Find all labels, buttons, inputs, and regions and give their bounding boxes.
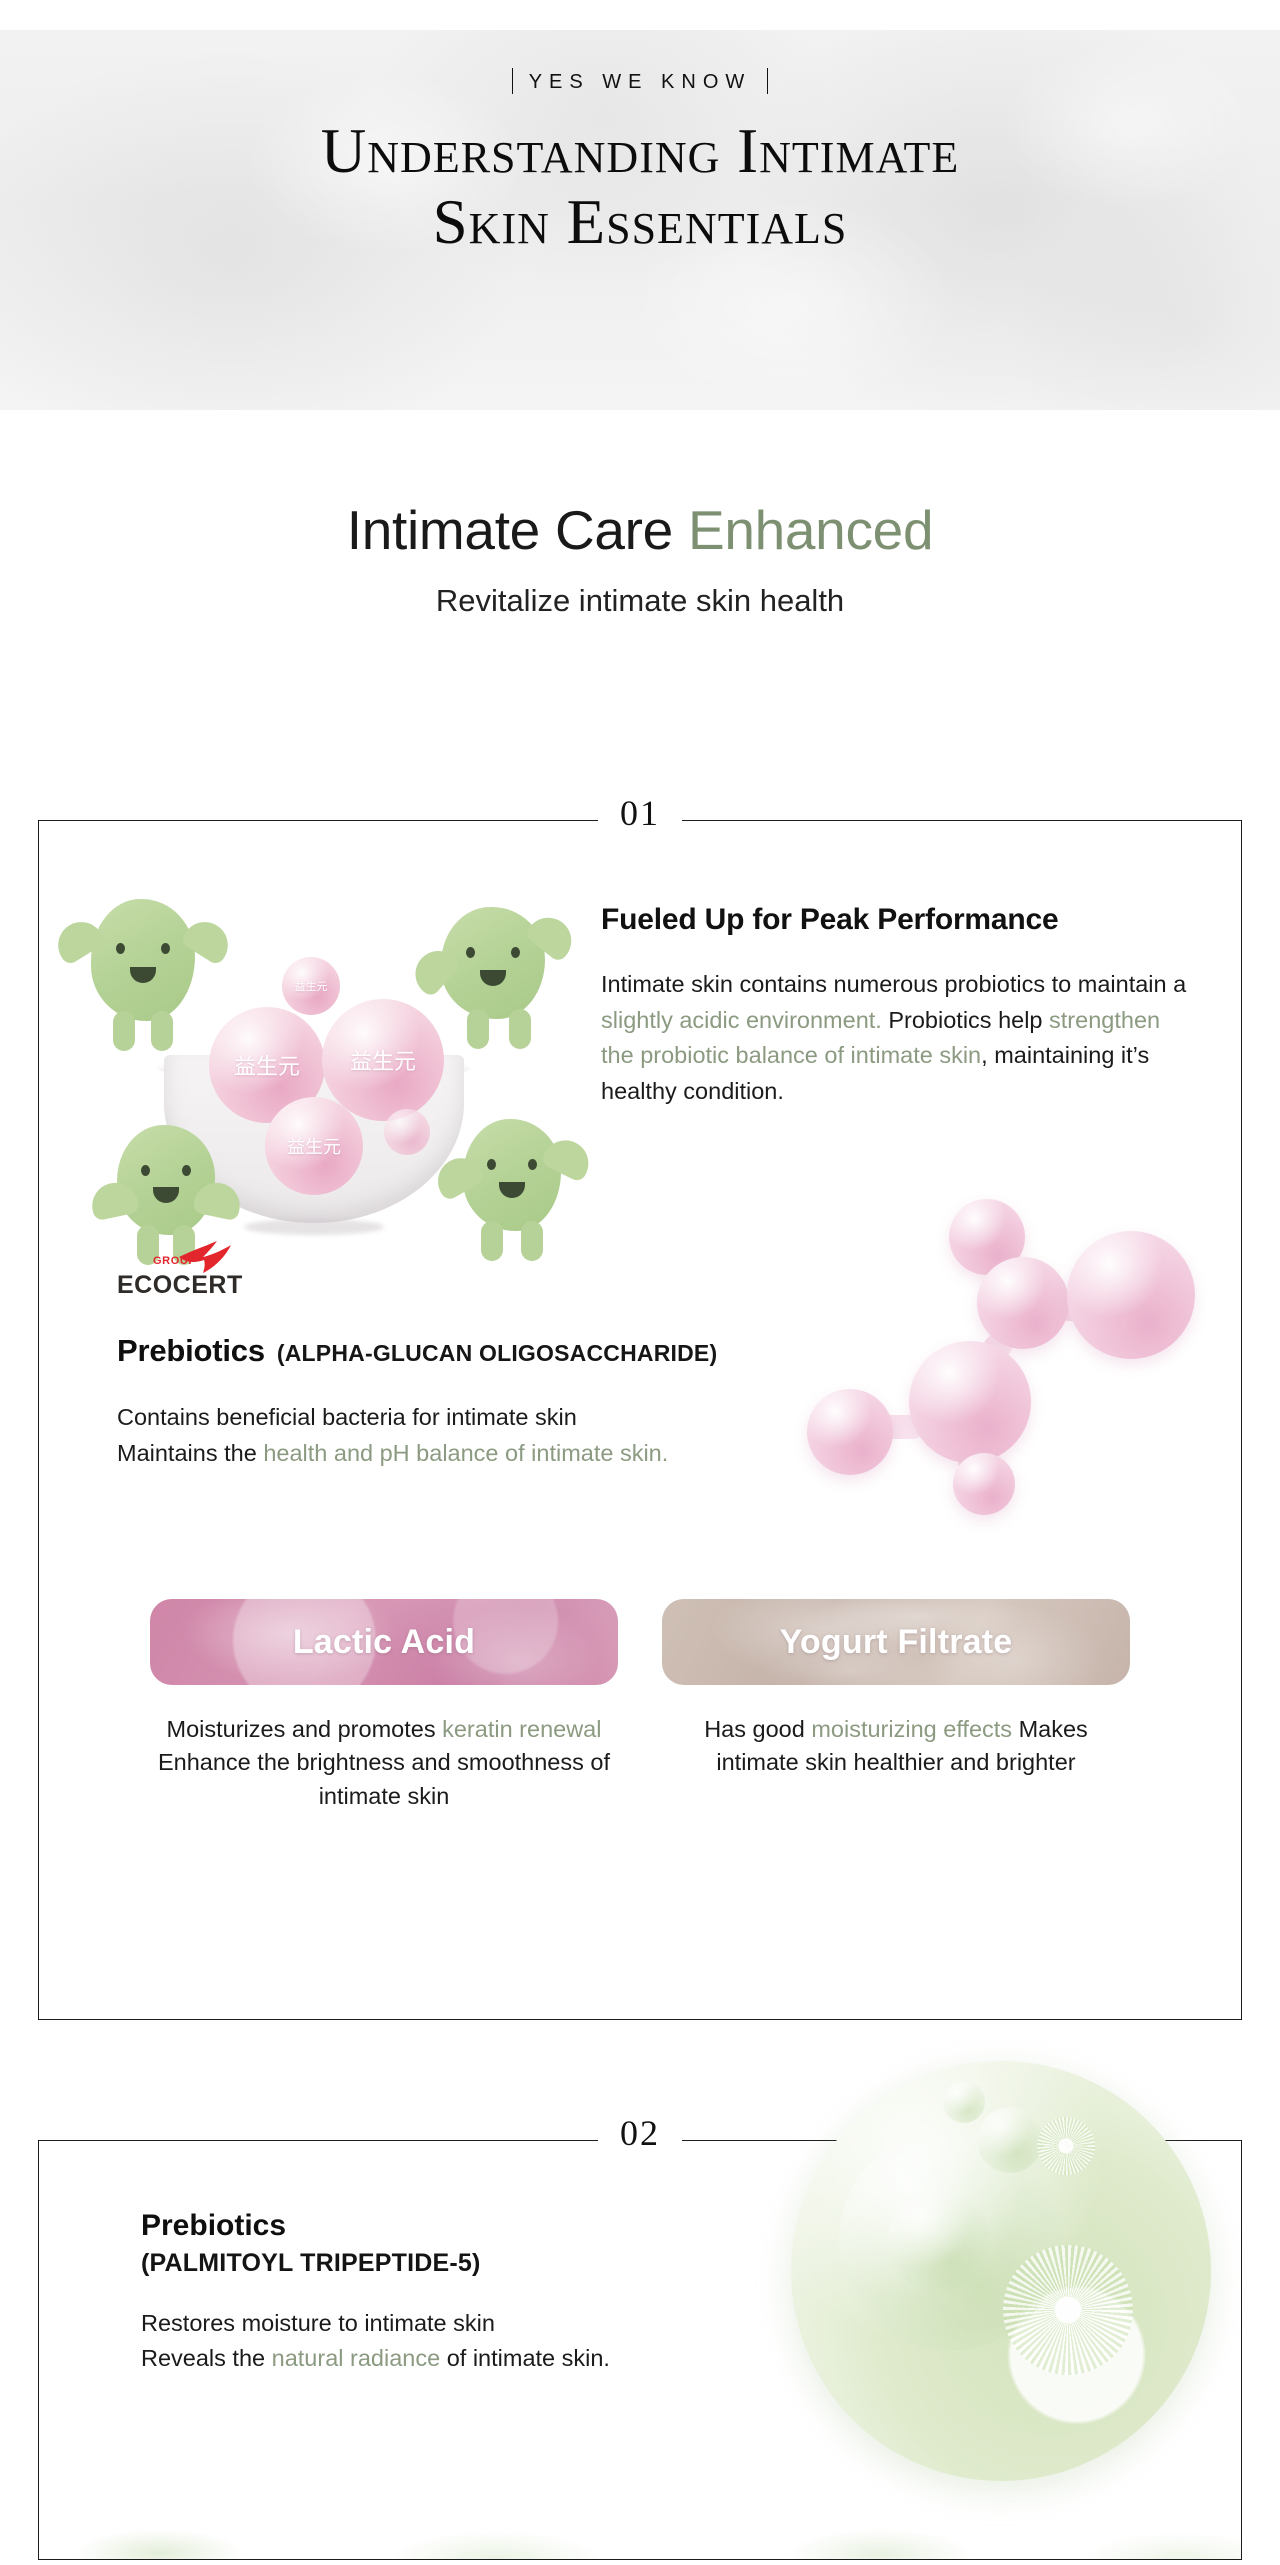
molecule-sphere xyxy=(1067,1231,1195,1359)
bowl-shadow xyxy=(244,1219,384,1235)
inner-bubble xyxy=(977,2107,1043,2173)
intro-heading-accent: Enhanced xyxy=(688,499,933,561)
inner-bubble xyxy=(943,2081,985,2123)
section-01-block-1: 益生元 益生元 益生元 益生元 xyxy=(39,881,1241,1241)
ingredient-desc-lactic-acid: Moisturizes and promotes keratin renewal… xyxy=(150,1713,618,1813)
ecocert-group-text: GROUP xyxy=(153,1255,196,1267)
intro-heading-plain: Intimate Care xyxy=(347,499,688,561)
ingredient-name-lactic-acid: Lactic Acid xyxy=(293,1623,475,1662)
prebiotics-inci-name: (ALPHA-GLUCAN OLIGOSACCHARIDE) xyxy=(277,1340,717,1366)
probiotic-mascots-illustration: 益生元 益生元 益生元 益生元 xyxy=(79,881,579,1241)
section-card-02: 02 Prebiotics (PALMITOYL TRIPEPTIDE-5) R… xyxy=(38,2140,1242,2560)
ecocert-logo: GROUP ECOCERT xyxy=(117,1251,287,1313)
desc-accent: keratin renewal xyxy=(442,1716,601,1742)
section-02-body: Restores moisture to intimate skin Revea… xyxy=(141,2306,761,2377)
character-mouth xyxy=(480,970,506,986)
section-02-inci-name: (PALMITOYL TRIPEPTIDE-5) xyxy=(141,2249,761,2278)
prebiotics-desc-line-1: Contains beneficial bacteria for intimat… xyxy=(117,1404,577,1430)
probiotic-character-happy-icon xyxy=(117,1125,215,1235)
section-02-body-line-1: Restores moisture to intimate skin xyxy=(141,2310,495,2336)
inner-bubble xyxy=(887,2189,991,2293)
character-leg-left xyxy=(467,1009,489,1049)
section-02-copy: Prebiotics (PALMITOYL TRIPEPTIDE-5) Rest… xyxy=(141,2209,761,2377)
probiotic-character-flexing-icon xyxy=(91,899,195,1021)
intro-subheading: Revitalize intimate skin health xyxy=(0,583,1280,619)
desc-plain-1: Has good xyxy=(704,1716,811,1742)
character-leg-right xyxy=(509,1009,531,1049)
molecule-sphere xyxy=(977,1257,1069,1349)
character-arm-right xyxy=(523,908,580,963)
prebiotics-description: Contains beneficial bacteria for intimat… xyxy=(117,1399,737,1472)
section-card-01: 01 xyxy=(38,820,1242,2020)
prebiotic-bubble-right: 益生元 xyxy=(322,999,444,1121)
inner-bubble-burst xyxy=(1037,2117,1095,2175)
section-02-body-line-2-plain-b: of intimate skin. xyxy=(440,2345,610,2371)
prebiotics-desc-line-2-plain: Maintains the xyxy=(117,1440,263,1466)
character-mouth xyxy=(153,1187,179,1203)
prebiotic-bubble-bottom: 益生元 xyxy=(265,1097,363,1195)
body-text-accent-1: slightly acidic environment. xyxy=(601,1007,882,1033)
character-arm-right xyxy=(179,913,236,966)
desc-accent: moisturizing effects xyxy=(811,1716,1012,1742)
character-arm-left xyxy=(88,1179,140,1222)
character-arm-right xyxy=(540,1133,596,1184)
body-text-plain-2: Probiotics help xyxy=(882,1007,1049,1033)
desc-plain-1: Moisturizes and promotes xyxy=(167,1716,443,1742)
hero-banner: YES WE KNOW Understanding Intimate Skin … xyxy=(0,30,1280,410)
page-title-line-2: Skin Essentials xyxy=(0,187,1280,258)
character-arm-left xyxy=(406,942,462,999)
ingredient-card-lactic-acid: Lactic Acid Moisturizes and promotes ker… xyxy=(150,1599,618,1813)
prebiotic-bubble-tiny xyxy=(384,1109,430,1155)
eyebrow-right-rule xyxy=(767,68,768,94)
intro-block: Intimate Care Enhanced Revitalize intima… xyxy=(0,500,1280,619)
inner-bubble-burst xyxy=(1003,2245,1133,2375)
ingredient-card-yogurt-filtrate: Yogurt Filtrate Has good moisturizing ef… xyxy=(662,1599,1130,1813)
character-leg-right xyxy=(151,1011,173,1051)
character-leg-left xyxy=(481,1221,503,1261)
section-number-02: 02 xyxy=(598,2115,682,2151)
green-bubble-illustration xyxy=(791,2061,1211,2481)
molecule-sphere xyxy=(909,1341,1031,1463)
ingredient-desc-yogurt-filtrate: Has good moisturizing effects Makes inti… xyxy=(662,1713,1130,1780)
eyebrow-label: YES WE KNOW xyxy=(529,71,752,93)
ecocert-name-text: ECOCERT xyxy=(117,1271,243,1300)
ingredient-pill-lactic-acid[interactable]: Lactic Acid xyxy=(150,1599,618,1685)
desc-plain-2: Enhance the brightness and smoothness of… xyxy=(158,1749,610,1808)
ingredient-pill-row: Lactic Acid Moisturizes and promotes ker… xyxy=(39,1599,1241,1813)
character-mouth xyxy=(499,1182,525,1198)
character-leg-left xyxy=(113,1011,135,1051)
section-01-copy: Fueled Up for Peak Performance Intimate … xyxy=(579,881,1241,1110)
eyebrow-left-rule xyxy=(512,68,513,94)
section-01-heading: Fueled Up for Peak Performance xyxy=(601,903,1199,937)
probiotic-character-fork-icon xyxy=(463,1119,561,1231)
section-02-body-line-2-plain-a: Reveals the xyxy=(141,2345,272,2371)
molecule-sphere xyxy=(807,1389,893,1475)
prebiotics-desc-line-2-accent: health and pH balance of intimate skin. xyxy=(263,1440,668,1466)
character-arm-left xyxy=(49,913,106,966)
hero-eyebrow: YES WE KNOW xyxy=(0,68,1280,94)
prebiotics-title: Prebiotics xyxy=(117,1333,265,1368)
section-number-01: 01 xyxy=(598,795,682,831)
intro-heading: Intimate Care Enhanced xyxy=(0,500,1280,561)
ingredient-name-yogurt-filtrate: Yogurt Filtrate xyxy=(780,1623,1013,1662)
prebiotics-title-row: Prebiotics(ALPHA-GLUCAN OLIGOSACCHARIDE) xyxy=(117,1333,717,1369)
prebiotic-bubble-small: 益生元 xyxy=(282,957,340,1015)
section-02-body-line-2-accent: natural radiance xyxy=(272,2345,441,2371)
section-02-title: Prebiotics xyxy=(141,2209,761,2243)
character-mouth xyxy=(130,967,156,983)
character-leg-right xyxy=(521,1221,543,1261)
molecule-sphere xyxy=(953,1453,1015,1515)
page-title-line-1: Understanding Intimate xyxy=(321,116,959,186)
product-detail-page: YES WE KNOW Understanding Intimate Skin … xyxy=(0,0,1280,2565)
page-title: Understanding Intimate Skin Essentials xyxy=(0,116,1280,257)
probiotic-character-running-icon xyxy=(441,907,545,1019)
ingredient-pill-yogurt-filtrate[interactable]: Yogurt Filtrate xyxy=(662,1599,1130,1685)
section-01-body: Intimate skin contains numerous probioti… xyxy=(601,967,1199,1110)
pink-molecule-illustration xyxy=(801,1191,1201,1531)
body-text-plain-1: Intimate skin contains numerous probioti… xyxy=(601,971,1186,997)
